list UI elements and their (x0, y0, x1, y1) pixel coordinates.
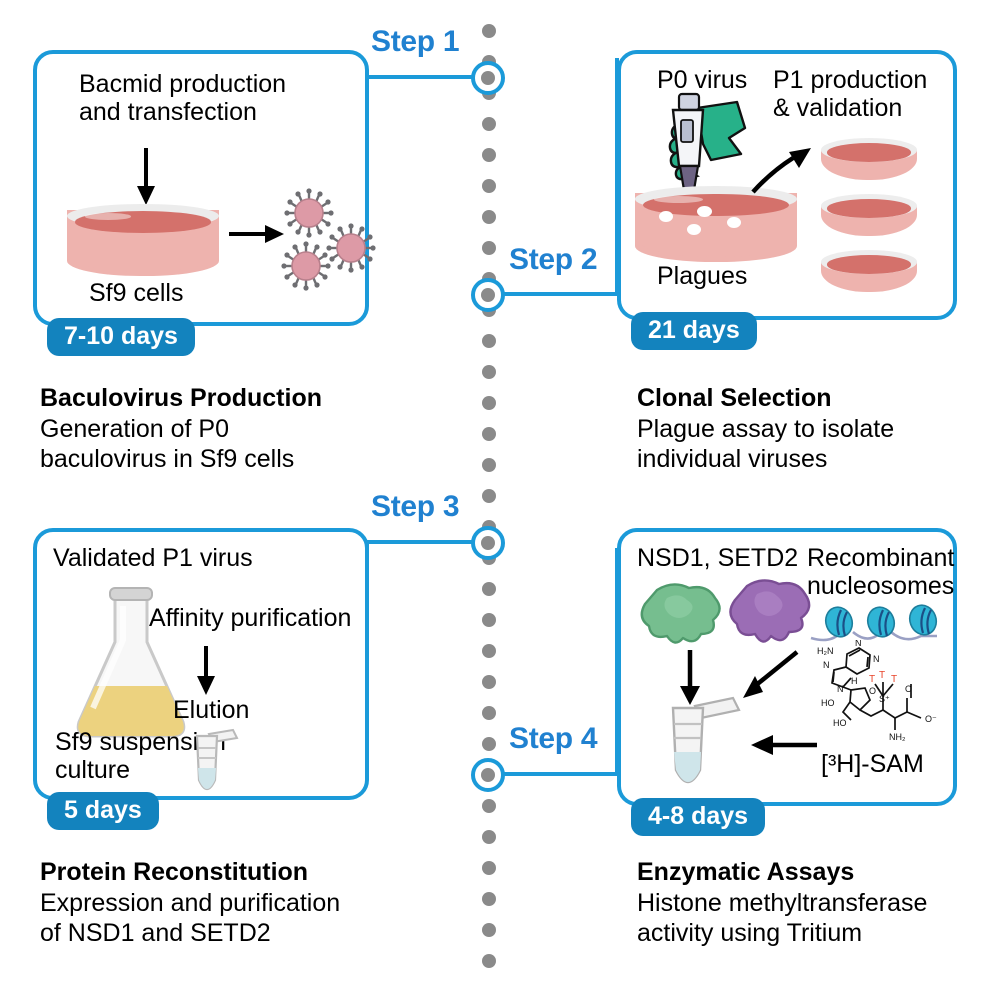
caption-title: Baculovirus Production (40, 383, 460, 414)
timeline-dot (482, 675, 496, 689)
caption-step-1: Baculovirus Production Generation of P0 … (40, 383, 460, 475)
badge-step-4: 4-8 days (631, 798, 765, 836)
petri-dish-icon (821, 138, 917, 180)
timeline-dot (482, 892, 496, 906)
plaque-spot (659, 211, 673, 222)
petri-dish-icon (821, 194, 917, 236)
timeline-dot (482, 582, 496, 596)
dish-highlight (85, 213, 131, 219)
timeline-node-dot (481, 288, 495, 302)
panel-step-2: P0 virus P1 production & validation (617, 50, 957, 320)
plaque-spot (687, 224, 701, 235)
panel-2-dish-label: Plagues (657, 262, 747, 290)
dish-medium (827, 199, 912, 217)
dish-highlight (654, 196, 703, 203)
panel-2-right-headline: P1 production & validation (773, 66, 927, 123)
protein-blob-icon (723, 576, 815, 652)
timeline-dot (482, 613, 496, 627)
timeline-node-step-3[interactable] (471, 526, 505, 560)
microcentrifuge-tube-icon (183, 728, 247, 804)
timeline-dot (482, 334, 496, 348)
caption-step-4: Enzymatic Assays Histone methyltransfera… (637, 857, 996, 949)
timeline-dot (482, 210, 496, 224)
svg-text:T: T (879, 670, 885, 681)
timeline-dot (482, 489, 496, 503)
panel-1-dish-label: Sf9 cells (89, 279, 183, 307)
timeline-dot (482, 24, 496, 38)
panel-3-process: Affinity purification (149, 604, 351, 632)
panel-4-cofactor: [³H]-SAM (821, 750, 924, 778)
arrow-down-icon (133, 148, 159, 206)
timeline-dot (482, 396, 496, 410)
caption-subtitle: Histone methyltransferase activity using… (637, 888, 996, 949)
panel-4-enzymes: NSD1, SETD2 (637, 544, 798, 572)
svg-text:T: T (869, 674, 875, 685)
caption-step-2: Clonal Selection Plague assay to isolate… (637, 383, 996, 475)
timeline-node-dot (481, 768, 495, 782)
timeline-node-step-2[interactable] (471, 278, 505, 312)
step-label-1: Step 1 (371, 25, 459, 59)
svg-text:N: N (873, 654, 880, 664)
svg-text:N: N (855, 640, 862, 648)
badge-step-3: 5 days (47, 792, 159, 830)
svg-text:S⁺: S⁺ (879, 694, 890, 704)
microcentrifuge-tube-icon (659, 694, 745, 802)
panel-4-substrate: Recombinant nucleosomes (807, 544, 954, 601)
timeline-dot (482, 241, 496, 255)
panel-step-3: Validated P1 virus Sf9 suspension cultur… (33, 528, 369, 800)
timeline-dot (482, 799, 496, 813)
timeline-dot (482, 117, 496, 131)
badge-step-2: 21 days (631, 312, 757, 350)
caption-step-3: Protein Reconstitution Expression and pu… (40, 857, 460, 949)
connector-step-2 (503, 292, 619, 296)
timeline-dot (482, 861, 496, 875)
svg-text:H: H (851, 676, 858, 686)
workflow-diagram: Step 1 Step 2 Step 3 Step 4 Bacmid produ… (0, 0, 996, 996)
timeline-node-step-4[interactable] (471, 758, 505, 792)
panel-2-left-headline: P0 virus (657, 66, 747, 94)
svg-text:HO: HO (833, 718, 847, 728)
timeline-spine (480, 24, 498, 972)
caption-subtitle: Plague assay to isolate individual virus… (637, 414, 996, 475)
svg-text:HO: HO (821, 698, 835, 708)
dish-medium (827, 255, 912, 273)
petri-dish-icon (635, 186, 797, 262)
petri-dish-icon (821, 250, 917, 292)
svg-text:N: N (823, 660, 830, 670)
connector-step-4 (503, 772, 619, 776)
svg-text:N: N (837, 684, 844, 694)
panel-1-headline: Bacmid production and transfection (79, 70, 286, 127)
petri-dish-icon (67, 204, 219, 276)
step-label-2: Step 2 (509, 243, 597, 277)
arrow-right-icon (229, 222, 285, 246)
caption-title: Protein Reconstitution (40, 857, 460, 888)
svg-text:T: T (891, 674, 897, 685)
svg-text:NH₂: NH₂ (889, 732, 906, 742)
virus-particle-icon (325, 222, 377, 274)
protein-blob-icon (635, 580, 727, 652)
timeline-node-dot (481, 536, 495, 550)
panel-step-1: Bacmid production and transfection Sf9 c… (33, 50, 369, 326)
panel-step-4: NSD1, SETD2 Recombinant nucleosomes (617, 528, 957, 806)
step-label-4: Step 4 (509, 722, 597, 756)
timeline-dot (482, 923, 496, 937)
timeline-dot (482, 427, 496, 441)
timeline-dot (482, 148, 496, 162)
plaque-spot (697, 206, 712, 217)
connector-step-1 (365, 75, 473, 79)
svg-text:O⁻: O⁻ (925, 714, 937, 724)
svg-text:H₂N: H₂N (817, 646, 834, 656)
timeline-dot (482, 737, 496, 751)
plaque-spot (727, 217, 741, 228)
arrow-down-icon (193, 646, 219, 696)
timeline-dot (482, 644, 496, 658)
timeline-dot (482, 954, 496, 968)
connector-step-3 (365, 540, 473, 544)
timeline-dot (482, 365, 496, 379)
panel-3-headline: Validated P1 virus (53, 544, 253, 572)
svg-text:O: O (869, 686, 876, 696)
sam-molecule-icon: TTT H₂N N N N N H O HO HO S⁺ O O⁻ NH₂ (807, 640, 947, 750)
timeline-dot (482, 830, 496, 844)
dish-medium (827, 143, 912, 161)
timeline-dot (482, 458, 496, 472)
virus-particle-icon (280, 240, 332, 292)
timeline-node-step-1[interactable] (471, 61, 505, 95)
badge-step-1: 7-10 days (47, 318, 195, 356)
panel-3-product: Elution (173, 696, 249, 724)
svg-text:O: O (905, 684, 912, 694)
timeline-dot (482, 179, 496, 193)
caption-title: Clonal Selection (637, 383, 996, 414)
arrow-curved-icon (749, 132, 827, 196)
caption-subtitle: Generation of P0 baculovirus in Sf9 cell… (40, 414, 460, 475)
caption-subtitle: Expression and purification of NSD1 and … (40, 888, 460, 949)
timeline-node-dot (481, 71, 495, 85)
caption-title: Enzymatic Assays (637, 857, 996, 888)
timeline-dot (482, 706, 496, 720)
step-label-3: Step 3 (371, 490, 459, 524)
